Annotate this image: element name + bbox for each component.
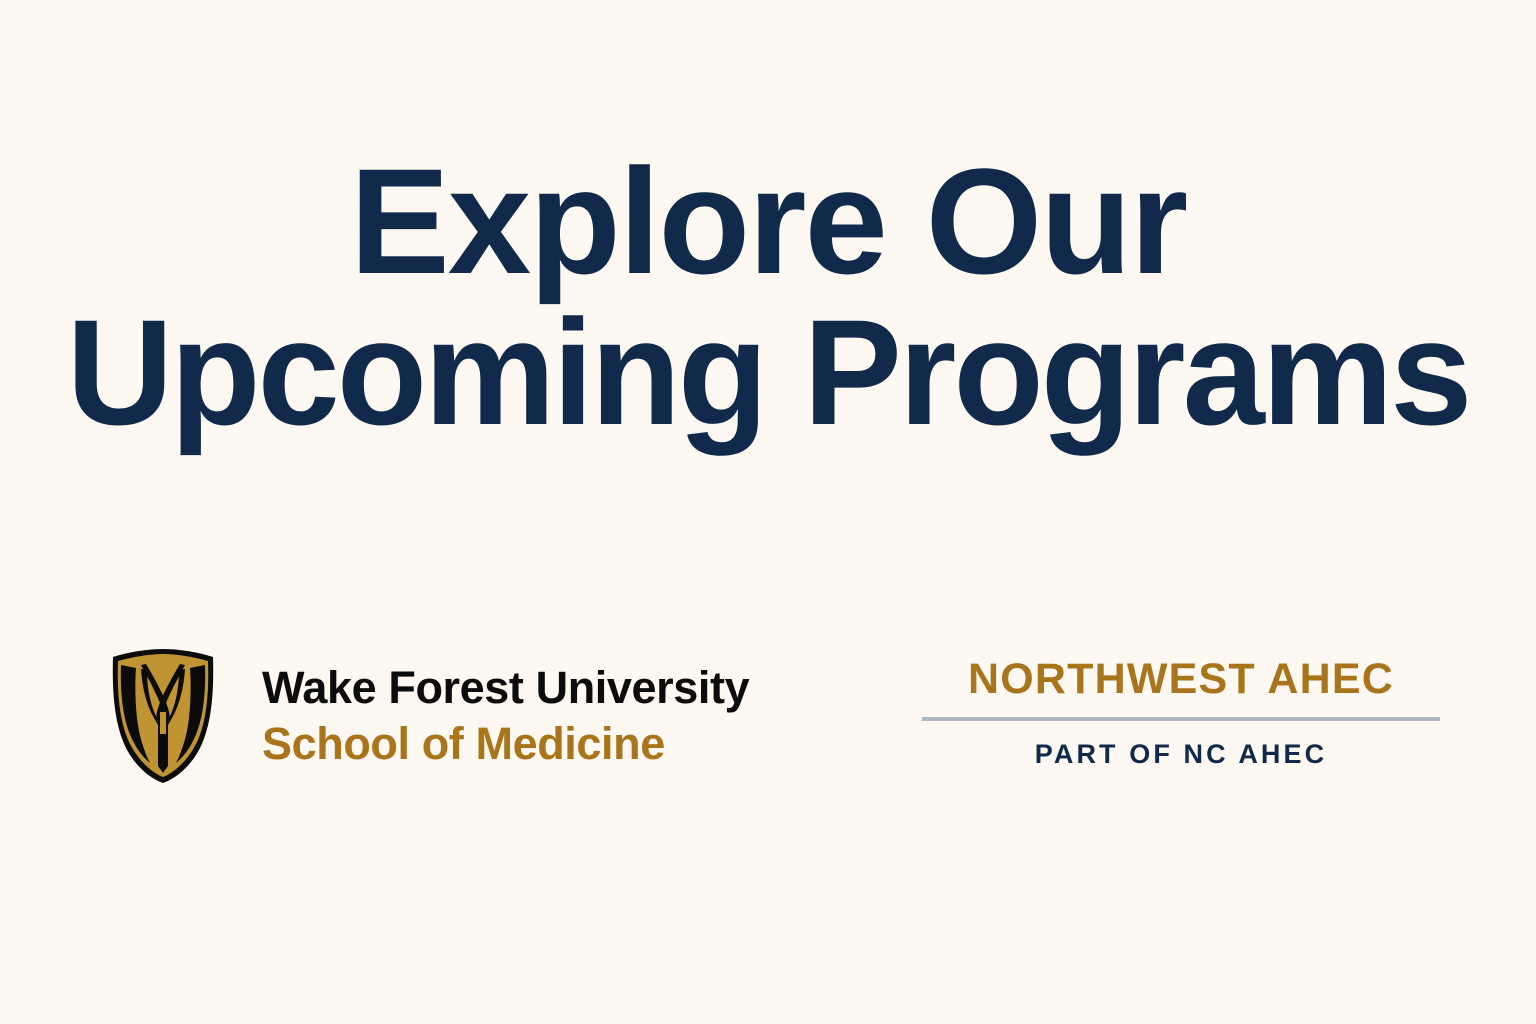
wake-forest-university-text: Wake Forest University [262, 664, 749, 712]
logo-band: Wake Forest University School of Medicin… [0, 640, 1536, 800]
headline-line-1: Explore Our [0, 148, 1536, 295]
page-title: Explore Our Upcoming Programs [0, 148, 1536, 446]
headline-line-2: Upcoming Programs [12, 299, 1525, 446]
northwest-ahec-title: NORTHWEST AHEC [922, 658, 1440, 701]
wake-forest-wordmark: Wake Forest University School of Medicin… [262, 664, 749, 767]
wake-forest-shield-icon [108, 648, 218, 784]
northwest-ahec-logo-lockup: NORTHWEST AHEC PART OF NC AHEC [922, 658, 1440, 768]
school-of-medicine-text: School of Medicine [262, 720, 749, 768]
wake-forest-logo-lockup: Wake Forest University School of Medicin… [108, 648, 749, 784]
ahec-divider-rule [922, 717, 1440, 721]
northwest-ahec-subtitle: PART OF NC AHEC [922, 741, 1440, 768]
slide-canvas: Explore Our Upcoming Programs [0, 0, 1536, 1024]
